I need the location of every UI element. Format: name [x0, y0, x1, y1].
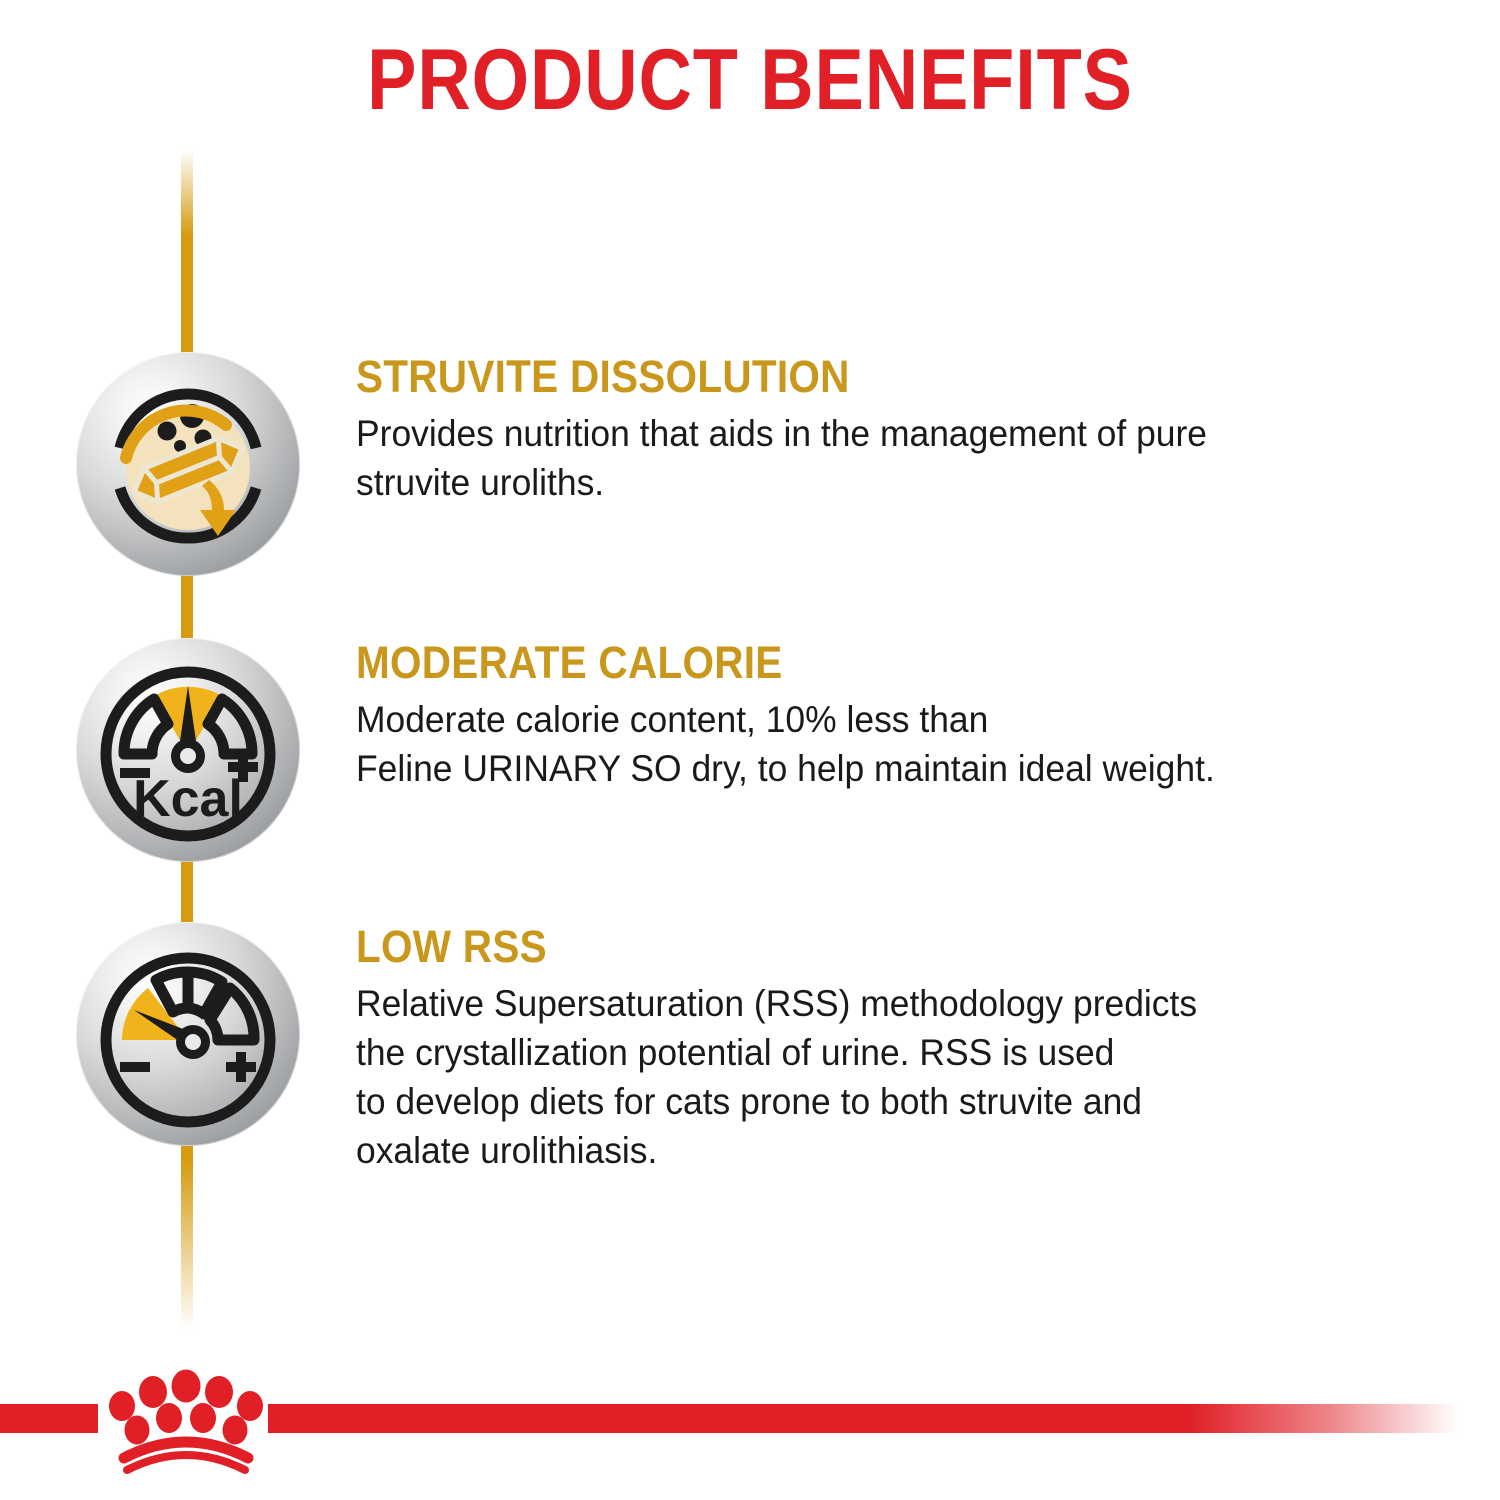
benefit-text-block: LOW RSS Relative Supersaturation (RSS) m…	[356, 922, 1446, 1175]
royal-canin-crown-logo	[96, 1356, 276, 1474]
benefit-heading: STRUVITE DISSOLUTION	[356, 352, 1337, 402]
struvite-dissolution-icon	[76, 352, 300, 576]
benefit-body: Moderate calorie content, 10% less than …	[356, 695, 1386, 793]
benefit-heading: LOW RSS	[356, 922, 1337, 972]
kcal-gauge-icon: Kcal	[76, 638, 300, 862]
benefit-body: Relative Supersaturation (RSS) methodolo…	[356, 979, 1386, 1175]
benefit-body: Provides nutrition that aids in the mana…	[356, 409, 1386, 507]
svg-text:Kcal: Kcal	[133, 770, 243, 828]
benefit-heading: MODERATE CALORIE	[356, 638, 1337, 688]
footer-bar-right	[268, 1404, 1500, 1433]
benefit-text-block: MODERATE CALORIE Moderate calorie conten…	[356, 638, 1446, 793]
benefit-text-block: STRUVITE DISSOLUTION Provides nutrition …	[356, 352, 1446, 507]
footer	[0, 1398, 1500, 1500]
low-rss-gauge-icon	[76, 922, 300, 1146]
footer-bar-left	[0, 1404, 98, 1433]
page-title: PRODUCT BENEFITS	[105, 32, 1395, 128]
